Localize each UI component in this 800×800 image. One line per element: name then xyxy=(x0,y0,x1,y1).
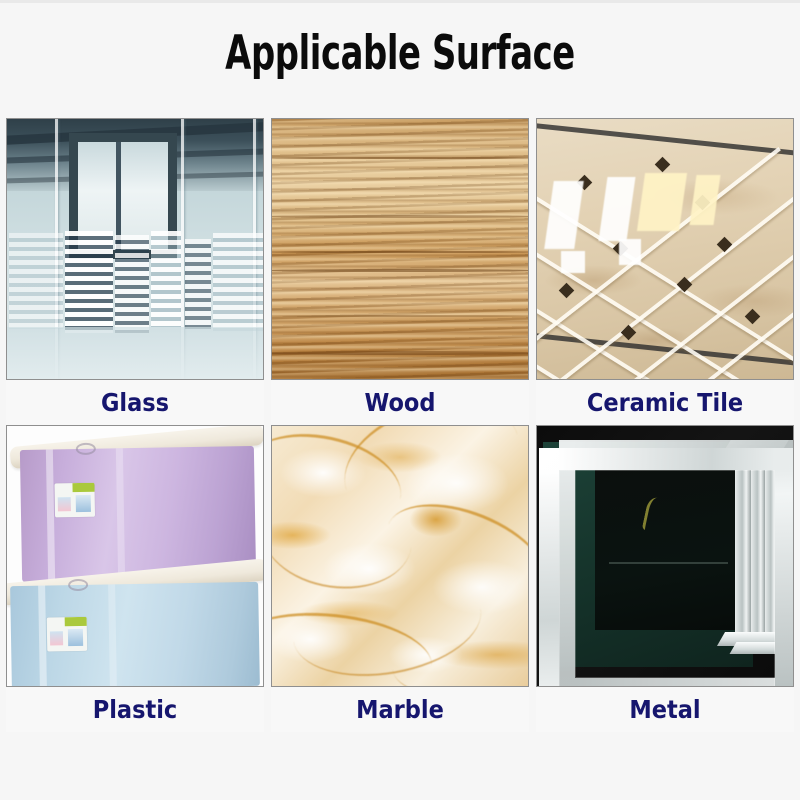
wood-grain-line xyxy=(271,251,529,253)
surface-label-marble: Marble xyxy=(271,687,529,732)
wood-grain-line xyxy=(271,351,529,355)
surface-card-glass[interactable]: Glass xyxy=(6,118,264,425)
glass-frosted-stripes xyxy=(213,233,263,331)
ceramic-window-reflection xyxy=(561,251,585,273)
surface-row-1: Glass Wood xyxy=(6,118,794,425)
glass-floor xyxy=(7,327,263,379)
wood-image xyxy=(271,118,529,380)
glass-frosted-stripes xyxy=(185,239,211,329)
sticker-swatch xyxy=(50,631,63,645)
ceramic-window-reflection xyxy=(619,239,641,265)
top-divider xyxy=(0,0,800,3)
bin-label-sticker xyxy=(47,617,88,652)
sticker-green-band xyxy=(72,483,94,492)
surface-card-ceramic-tile[interactable]: Ceramic Tile xyxy=(536,118,794,425)
surface-card-plastic[interactable]: Plastic xyxy=(6,425,264,732)
ceramic-tile-image xyxy=(536,118,794,380)
plastic-image xyxy=(6,425,264,687)
surface-card-metal[interactable]: Metal xyxy=(536,425,794,732)
marble-image xyxy=(271,425,529,687)
plastic-bin-blue xyxy=(10,582,260,687)
glass-frosted-stripes xyxy=(9,233,63,329)
sticker-swatch xyxy=(58,497,71,511)
metal-image xyxy=(536,425,794,687)
page-title: Applicable Surface xyxy=(80,26,720,82)
wood-grain-line xyxy=(271,215,529,218)
bin-label-sticker xyxy=(54,483,95,518)
surface-grid: Glass Wood xyxy=(6,118,794,732)
surface-row-2: Plastic Marble xyxy=(6,425,794,732)
infographic-page: Applicable Surface xyxy=(0,0,800,800)
wood-grain-line xyxy=(271,157,529,159)
glass-frosted-stripes xyxy=(65,231,113,333)
surface-label-wood: Wood xyxy=(271,380,529,425)
glass-frosted-stripes xyxy=(151,231,181,327)
glass-frosted-stripes xyxy=(115,235,149,333)
ceramic-window-reflection xyxy=(637,173,687,231)
glass-image xyxy=(6,118,264,380)
surface-label-plastic: Plastic xyxy=(6,687,264,732)
sticker-swatch xyxy=(68,629,83,646)
wood-grain-line xyxy=(271,315,529,317)
wood-grain-line xyxy=(271,269,529,272)
metal-frame-front xyxy=(539,448,794,687)
sticker-green-band xyxy=(65,617,87,626)
surface-card-wood[interactable]: Wood xyxy=(271,118,529,425)
sticker-swatch xyxy=(76,495,91,512)
surface-label-ceramic-tile: Ceramic Tile xyxy=(536,380,794,425)
surface-label-glass: Glass xyxy=(6,380,264,425)
surface-card-marble[interactable]: Marble xyxy=(271,425,529,732)
surface-label-metal: Metal xyxy=(536,687,794,732)
